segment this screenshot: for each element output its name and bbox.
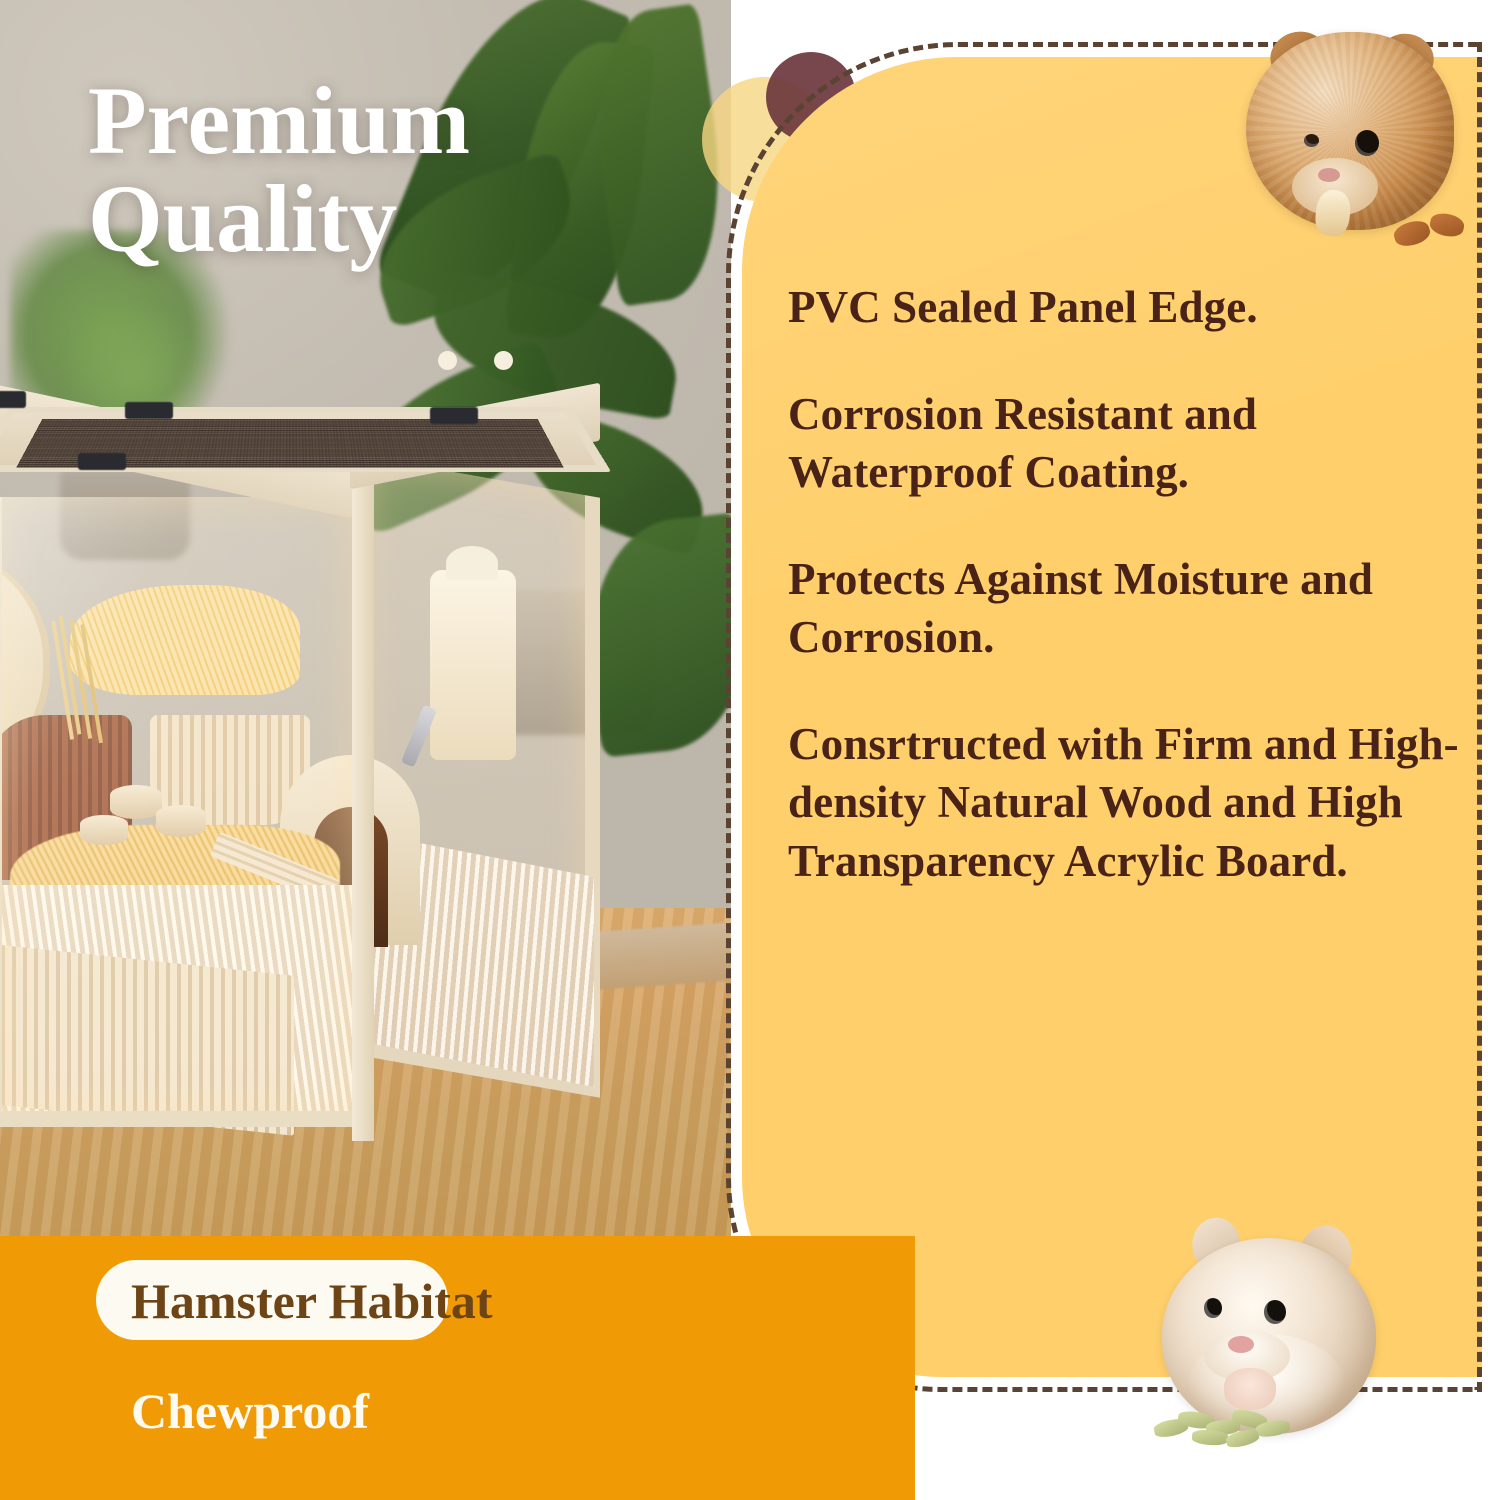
cage-hinge: [0, 391, 26, 408]
hamster-paws: [1224, 1368, 1276, 1410]
feature-item: Consrtructed with Firm and High-density …: [788, 715, 1478, 891]
cage-hinge: [430, 407, 478, 424]
feature-list: PVC Sealed Panel Edge. Corrosion Resista…: [788, 278, 1478, 890]
marketing-infographic: Premium Quality PVC Sealed Panel Edge. C…: [0, 0, 1488, 1500]
cage-corner-post: [352, 481, 374, 1141]
page-title: Premium Quality: [88, 72, 708, 268]
pumpkin-seed: [1192, 1429, 1229, 1446]
feature-item: Corrosion Resistant and Waterproof Coati…: [788, 385, 1478, 502]
water-bottle-ear: [494, 351, 513, 370]
banner-subtitle: Chewproof: [131, 1382, 369, 1440]
feature-item: PVC Sealed Panel Edge.: [788, 278, 1478, 337]
hamster-eye-right: [1264, 1300, 1286, 1324]
feature-item: Protects Against Moisture and Corrosion.: [788, 550, 1478, 667]
hamster-top-right: [1232, 18, 1468, 246]
dashed-frame-right-mask: [1482, 38, 1488, 1398]
pumpkin-seed-pile: [1152, 1408, 1302, 1448]
hamster-eye-right: [1355, 130, 1379, 156]
bottom-banner-overlap: [742, 1236, 915, 1500]
cage-acrylic-front-panel: [0, 497, 364, 1127]
hamster-nose: [1318, 168, 1340, 182]
badge-label: Hamster Habitat: [131, 1272, 691, 1330]
water-bottle: [430, 570, 516, 760]
hamster-eye-left: [1304, 134, 1319, 147]
hamster-bottom-right: [1152, 1212, 1396, 1464]
page-title-line-2: Quality: [88, 170, 708, 268]
hamster-nose: [1228, 1336, 1254, 1353]
hamster-habitat-cage: [0, 385, 660, 1185]
page-title-line-1: Premium: [88, 67, 470, 174]
hamster-eye-left: [1204, 1298, 1222, 1318]
food-pellet: [1428, 211, 1466, 240]
water-bottle-ear: [438, 351, 457, 370]
cage-latch: [78, 453, 126, 470]
cage-hinge: [125, 402, 173, 419]
